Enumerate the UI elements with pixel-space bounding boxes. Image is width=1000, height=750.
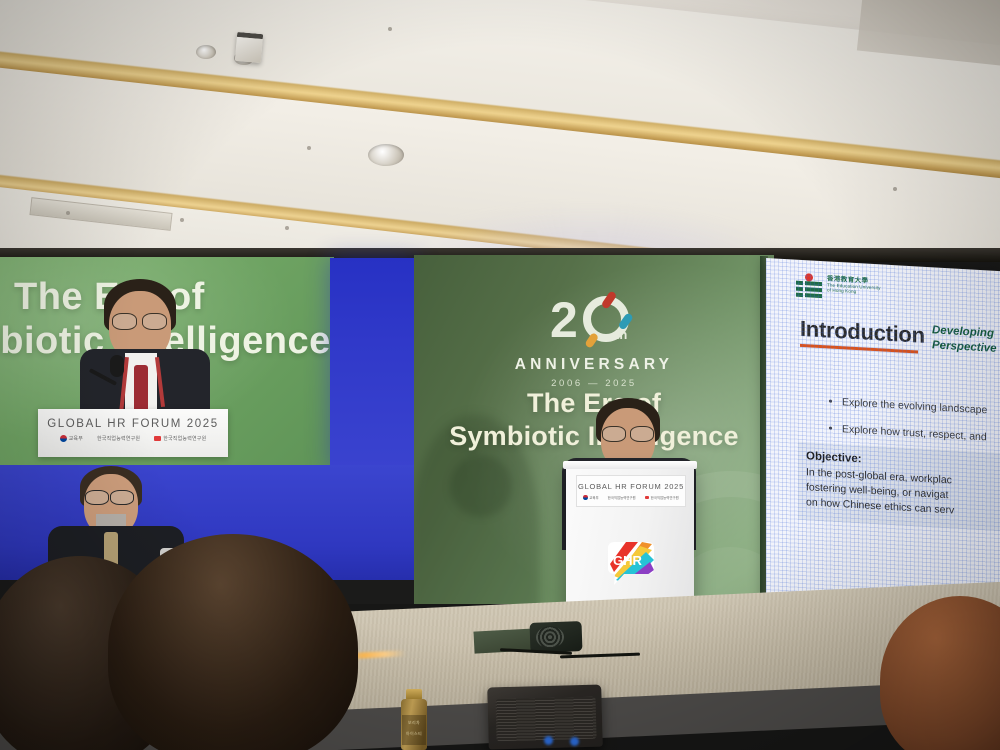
anniversary-word: ANNIVERSARY bbox=[414, 356, 774, 374]
microphone-icon bbox=[110, 355, 124, 377]
audience-head bbox=[108, 534, 358, 750]
backdrop-shadow-head bbox=[450, 455, 512, 517]
glasses-icon bbox=[630, 426, 654, 442]
svg-text:th: th bbox=[615, 327, 627, 342]
ceiling-projector-icon bbox=[235, 32, 263, 63]
anniversary-logo: 2 th ANNIVERSARY 2006 — 2025 bbox=[414, 289, 774, 389]
logo-krivet-2: 한국직업능력연구원 bbox=[154, 435, 206, 442]
podium-sign-logos: 교육부 한국직업능력연구원 한국직업능력연구원 bbox=[577, 495, 685, 500]
anniversary-number-mark: 2 th bbox=[548, 289, 640, 349]
podium-sign: GLOBAL HR FORUM 2025 교육부 한국직업능력연구원 한국직업능… bbox=[576, 475, 686, 507]
logo-moe: 교육부 bbox=[60, 435, 83, 442]
conference-photo: The Era of mbiotic Intelligence GLOBAL H… bbox=[0, 0, 1000, 750]
ceiling-fixture-dot bbox=[66, 211, 70, 215]
stage-floor-light bbox=[529, 621, 582, 653]
podium-sign-text: GLOBAL HR FORUM 2025 bbox=[577, 482, 685, 491]
ceiling-fixture-dot bbox=[893, 187, 897, 191]
svg-text:2: 2 bbox=[550, 292, 578, 348]
indicator-light-icon bbox=[544, 736, 553, 745]
downlight-icon bbox=[368, 144, 404, 166]
ceiling-fixture-dot bbox=[285, 226, 289, 230]
logo-krivet: 한국직업능력연구원 bbox=[608, 495, 636, 500]
glasses-icon bbox=[602, 426, 626, 442]
glasses-icon bbox=[110, 490, 134, 505]
downlight-icon bbox=[196, 45, 216, 59]
logo-krivet-2: 한국직업능력연구원 bbox=[645, 495, 679, 500]
projected-podium-logos: 교육부 한국직업능력연구원 한국직업능력연구원 bbox=[38, 435, 228, 442]
projected-podium-sign-text: GLOBAL HR FORUM 2025 bbox=[38, 418, 228, 430]
list-item: Explore the evolving landscape bbox=[842, 396, 1000, 422]
ghr-logo-icon: GHR bbox=[602, 538, 658, 590]
glasses-icon bbox=[85, 490, 109, 505]
bottle-label-line2: 아이스티 bbox=[402, 731, 426, 737]
podium-top-surface bbox=[563, 461, 697, 469]
stage-light-lens-icon bbox=[536, 626, 565, 649]
eduhk-logo-mark-icon bbox=[796, 274, 822, 299]
ceiling-fixture-dot bbox=[180, 218, 184, 222]
bottle-label-line1: 보리차 bbox=[402, 720, 426, 726]
right-projection-screen: 香港教育大學 The Education University of Hong … bbox=[766, 258, 1000, 631]
slide-heading: Introduction bbox=[800, 316, 925, 349]
logo-krivet: 한국직업능력연구원 bbox=[97, 435, 140, 442]
bottle-label: 보리차 아이스티 bbox=[402, 715, 426, 745]
ceiling-fixture-dot bbox=[388, 27, 392, 31]
eduhk-logo-text: 香港教育大學 The Education University of Hong … bbox=[827, 275, 880, 296]
blue-side-panel bbox=[330, 258, 416, 470]
slide-subheading-line2: Perspective bbox=[932, 338, 997, 357]
slide-objective-box: Objective: In the post-global era, workp… bbox=[798, 442, 1000, 534]
indicator-light-icon bbox=[570, 737, 579, 746]
slide-content: 香港教育大學 The Education University of Hong … bbox=[766, 258, 1000, 631]
ceiling-fixture-dot bbox=[307, 146, 311, 150]
slide-subheading: Developing Perspective bbox=[932, 323, 997, 357]
projected-podium-sign: GLOBAL HR FORUM 2025 교육부 한국직업능력연구원 한국직업능… bbox=[38, 409, 228, 457]
projected-speaker bbox=[82, 279, 210, 429]
glasses-icon bbox=[112, 313, 137, 330]
eduhk-logo: 香港教育大學 The Education University of Hong … bbox=[796, 274, 880, 303]
water-bottle: 보리차 아이스티 bbox=[401, 689, 427, 750]
speaker-grill bbox=[496, 697, 597, 742]
left-projection-screen: The Era of mbiotic Intelligence GLOBAL H… bbox=[0, 257, 334, 467]
speaker-indicator-lights bbox=[540, 736, 600, 746]
ceiling bbox=[0, 0, 1000, 262]
glasses-icon bbox=[142, 313, 167, 330]
logo-moe: 교육부 bbox=[583, 495, 598, 500]
svg-text:GHR: GHR bbox=[613, 553, 643, 568]
